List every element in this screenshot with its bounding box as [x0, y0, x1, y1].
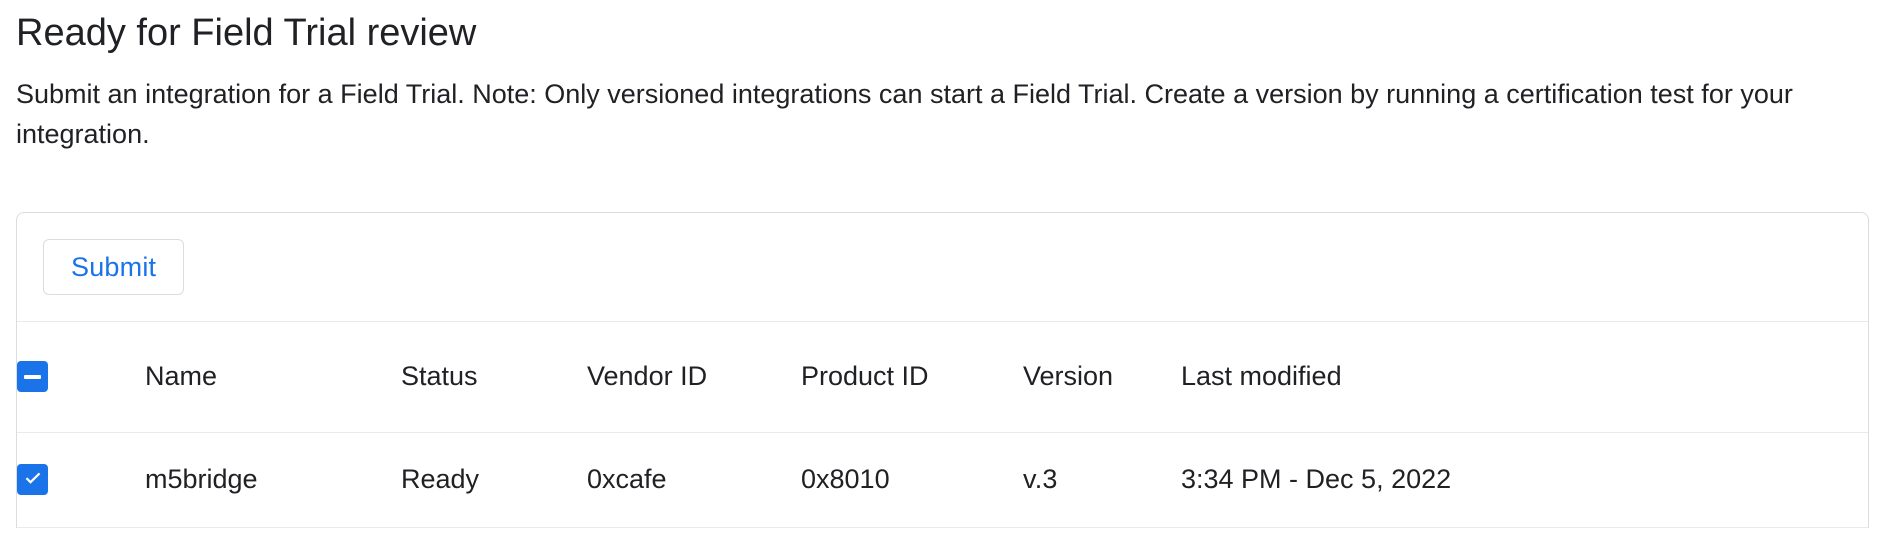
column-header-vendor-id[interactable]: Vendor ID [587, 322, 801, 432]
column-header-last-modified[interactable]: Last modified [1181, 322, 1868, 432]
cell-status: Ready [401, 432, 587, 527]
cell-product-id: 0x8010 [801, 432, 1023, 527]
table-body: m5bridge Ready 0xcafe 0x8010 v.3 3:34 PM… [17, 432, 1868, 527]
cell-last-modified: 3:34 PM - Dec 5, 2022 [1181, 432, 1868, 527]
integrations-table: Name Status Vendor ID Product ID Version… [17, 322, 1868, 528]
page-root: Ready for Field Trial review Submit an i… [0, 0, 1884, 550]
cell-name: m5bridge [145, 432, 401, 527]
submit-button[interactable]: Submit [43, 239, 184, 295]
page-description: Submit an integration for a Field Trial.… [16, 56, 1868, 154]
select-all-checkbox-indeterminate-icon[interactable] [17, 361, 48, 392]
table-row[interactable]: m5bridge Ready 0xcafe 0x8010 v.3 3:34 PM… [17, 432, 1868, 527]
dash-glyph [24, 375, 41, 379]
row-checkbox-checked-icon[interactable] [17, 464, 48, 495]
cell-vendor-id: 0xcafe [587, 432, 801, 527]
column-header-name[interactable]: Name [145, 322, 401, 432]
table-header-row: Name Status Vendor ID Product ID Version… [17, 322, 1868, 432]
column-header-status[interactable]: Status [401, 322, 587, 432]
card-toolbar: Submit [17, 213, 1868, 322]
row-select-cell [17, 432, 145, 527]
page-title: Ready for Field Trial review [16, 0, 1868, 56]
cell-version: v.3 [1023, 432, 1181, 527]
table-header: Name Status Vendor ID Product ID Version… [17, 322, 1868, 432]
select-all-cell [17, 322, 145, 432]
integrations-card: Submit Name S [16, 212, 1869, 528]
column-header-product-id[interactable]: Product ID [801, 322, 1023, 432]
column-header-version[interactable]: Version [1023, 322, 1181, 432]
